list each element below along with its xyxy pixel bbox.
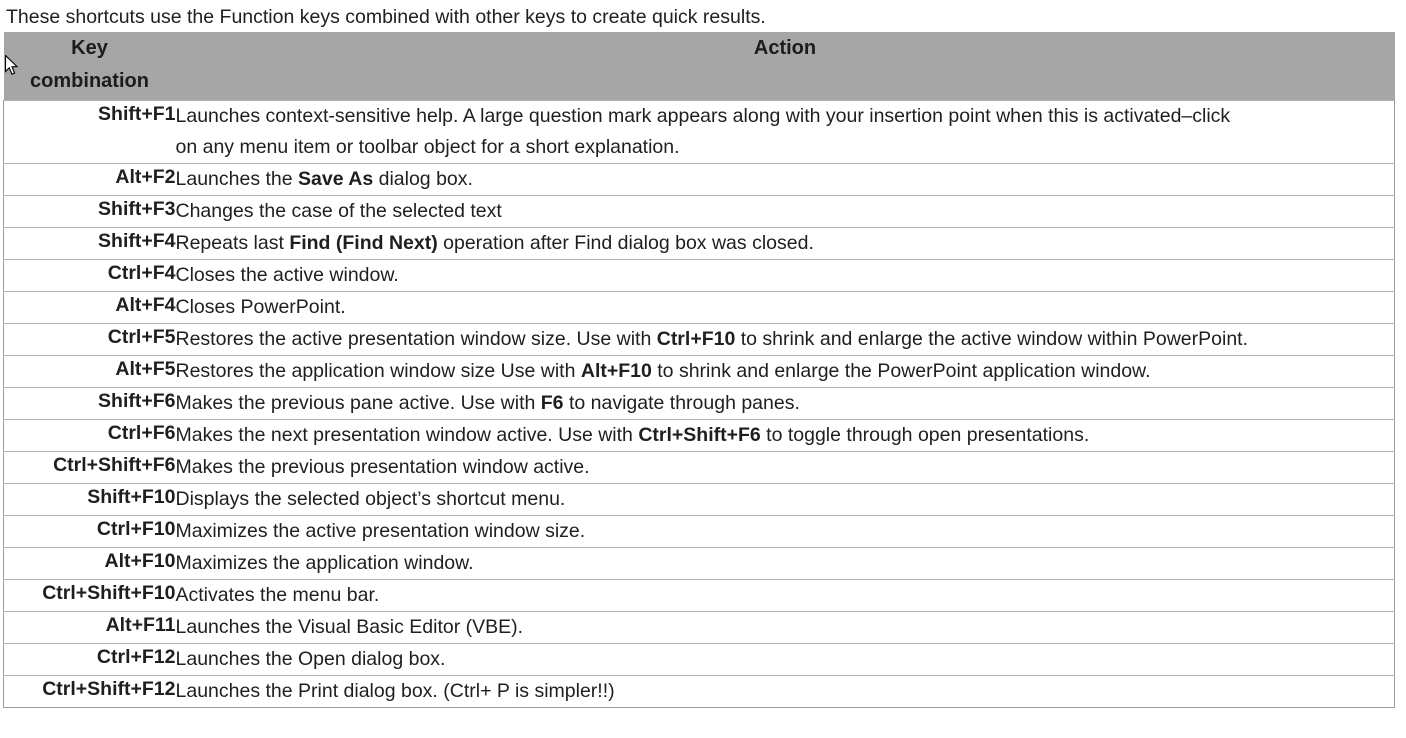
- action-text-line: Activates the menu bar.: [176, 580, 1395, 611]
- key-combination-cell: Ctrl+F4: [4, 259, 176, 291]
- table-row: Alt+F4Closes PowerPoint.: [4, 291, 1395, 323]
- action-text-fragment: Launches context-sensitive help. A large…: [176, 105, 1231, 127]
- action-text-line: Launches the Open dialog box.: [176, 644, 1395, 675]
- action-description-cell: Makes the previous pane active. Use with…: [176, 387, 1395, 419]
- action-description-cell: Launches the Visual Basic Editor (VBE).: [176, 611, 1395, 643]
- action-text-line: Displays the selected object’s shortcut …: [176, 484, 1395, 515]
- action-text-emphasis: Find (Find Next): [289, 232, 437, 254]
- table-header-row: Key combination Action: [4, 32, 1395, 100]
- table-row: Ctrl+F4Closes the active window.: [4, 259, 1395, 291]
- action-text-emphasis: Ctrl+Shift+F6: [638, 424, 760, 446]
- key-combination-cell: Shift+F3: [4, 195, 176, 227]
- action-text-fragment: Makes the next presentation window activ…: [176, 424, 639, 446]
- table-body: Shift+F1Launches context-sensitive help.…: [4, 100, 1395, 707]
- action-text-emphasis: F6: [541, 392, 564, 414]
- action-text-line: Closes the active window.: [176, 260, 1395, 291]
- table-row: Shift+F3Changes the case of the selected…: [4, 195, 1395, 227]
- action-text-fragment: Launches the Print dialog box. (Ctrl+ P …: [176, 680, 615, 702]
- table-row: Ctrl+Shift+F10Activates the menu bar.: [4, 579, 1395, 611]
- key-combination-cell: Ctrl+Shift+F12: [4, 675, 176, 707]
- action-text-line: Maximizes the application window.: [176, 548, 1395, 579]
- action-text-emphasis: Save As: [298, 168, 373, 190]
- action-text-fragment: to navigate through panes.: [564, 392, 800, 414]
- action-description-cell: Displays the selected object’s shortcut …: [176, 483, 1395, 515]
- table-row: Ctrl+Shift+F6Makes the previous presenta…: [4, 451, 1395, 483]
- action-text-fragment: Maximizes the application window.: [176, 552, 474, 574]
- action-description-cell: Makes the previous presentation window a…: [176, 451, 1395, 483]
- table-row: Ctrl+F5Restores the active presentation …: [4, 323, 1395, 355]
- key-combination-cell: Shift+F6: [4, 387, 176, 419]
- action-description-cell: Closes PowerPoint.: [176, 291, 1395, 323]
- action-text-line: Restores the application window size Use…: [176, 356, 1395, 387]
- action-description-cell: Restores the active presentation window …: [176, 323, 1395, 355]
- table-row: Shift+F4Repeats last Find (Find Next) op…: [4, 227, 1395, 259]
- key-combination-cell: Alt+F10: [4, 547, 176, 579]
- key-combination-cell: Alt+F4: [4, 291, 176, 323]
- column-header-action: Action: [176, 32, 1395, 100]
- action-text-fragment: to shrink and enlarge the active window …: [735, 328, 1248, 350]
- action-text-fragment: on any menu item or toolbar object for a…: [176, 136, 680, 158]
- action-text-line: Launches the Print dialog box. (Ctrl+ P …: [176, 676, 1395, 707]
- action-text-fragment: Maximizes the active presentation window…: [176, 520, 586, 542]
- action-text-fragment: Launches the Open dialog box.: [176, 648, 446, 670]
- action-description-cell: Restores the application window size Use…: [176, 355, 1395, 387]
- key-combination-cell: Ctrl+Shift+F6: [4, 451, 176, 483]
- action-text-fragment: Closes the active window.: [176, 264, 399, 286]
- column-header-key-line1: Key: [4, 32, 176, 65]
- key-combination-cell: Alt+F5: [4, 355, 176, 387]
- action-description-cell: Launches the Print dialog box. (Ctrl+ P …: [176, 675, 1395, 707]
- column-header-key-combination: Key combination: [4, 32, 176, 100]
- action-text-line: Changes the case of the selected text: [176, 196, 1395, 227]
- action-text-fragment: Restores the application window size Use…: [176, 360, 581, 382]
- action-text-emphasis: Ctrl+F10: [657, 328, 736, 350]
- table-row: Ctrl+Shift+F12Launches the Print dialog …: [4, 675, 1395, 707]
- action-text-fragment: dialog box.: [373, 168, 473, 190]
- action-text-line: Restores the active presentation window …: [176, 324, 1395, 355]
- action-text-line: Launches context-sensitive help. A large…: [176, 101, 1395, 132]
- table-row: Alt+F5Restores the application window si…: [4, 355, 1395, 387]
- action-description-cell: Launches the Save As dialog box.: [176, 163, 1395, 195]
- action-text-line: Makes the previous presentation window a…: [176, 452, 1395, 483]
- action-text-line: Maximizes the active presentation window…: [176, 516, 1395, 547]
- action-description-cell: Activates the menu bar.: [176, 579, 1395, 611]
- key-combination-cell: Shift+F10: [4, 483, 176, 515]
- action-text-line: Repeats last Find (Find Next) operation …: [176, 228, 1395, 259]
- action-text-fragment: Changes the case of the selected text: [176, 200, 502, 222]
- action-text-fragment: Displays the selected object’s shortcut …: [176, 488, 566, 510]
- table-header: Key combination Action: [4, 32, 1395, 100]
- action-text-fragment: Restores the active presentation window …: [176, 328, 657, 350]
- table-row: Alt+F2Launches the Save As dialog box.: [4, 163, 1395, 195]
- action-text-line: Closes PowerPoint.: [176, 292, 1395, 323]
- action-text-fragment: Makes the previous pane active. Use with: [176, 392, 541, 414]
- action-text-line: on any menu item or toolbar object for a…: [176, 132, 1395, 163]
- action-description-cell: Repeats last Find (Find Next) operation …: [176, 227, 1395, 259]
- table-row: Alt+F11Launches the Visual Basic Editor …: [4, 611, 1395, 643]
- key-combination-cell: Ctrl+F12: [4, 643, 176, 675]
- key-combination-cell: Shift+F1: [4, 100, 176, 163]
- action-description-cell: Maximizes the active presentation window…: [176, 515, 1395, 547]
- action-description-cell: Launches the Open dialog box.: [176, 643, 1395, 675]
- action-text-emphasis: Alt+F10: [581, 360, 652, 382]
- table-row: Shift+F1Launches context-sensitive help.…: [4, 100, 1395, 163]
- key-combination-cell: Shift+F4: [4, 227, 176, 259]
- table-row: Shift+F10Displays the selected object’s …: [4, 483, 1395, 515]
- action-text-fragment: Launches the Visual Basic Editor (VBE).: [176, 616, 524, 638]
- action-description-cell: Closes the active window.: [176, 259, 1395, 291]
- key-combination-cell: Alt+F11: [4, 611, 176, 643]
- table-row: Ctrl+F10Maximizes the active presentatio…: [4, 515, 1395, 547]
- column-header-key-line2: combination: [4, 65, 176, 98]
- key-combination-cell: Ctrl+Shift+F10: [4, 579, 176, 611]
- function-key-shortcuts-table: Key combination Action Shift+F1Launches …: [3, 32, 1395, 708]
- action-text-fragment: Closes PowerPoint.: [176, 296, 346, 318]
- action-text-line: Launches the Visual Basic Editor (VBE).: [176, 612, 1395, 643]
- action-description-cell: Launches context-sensitive help. A large…: [176, 100, 1395, 163]
- action-text-fragment: operation after Find dialog box was clos…: [438, 232, 814, 254]
- action-text-line: Makes the previous pane active. Use with…: [176, 388, 1395, 419]
- table-row: Shift+F6Makes the previous pane active. …: [4, 387, 1395, 419]
- key-combination-cell: Ctrl+F10: [4, 515, 176, 547]
- table-row: Alt+F10Maximizes the application window.: [4, 547, 1395, 579]
- table-row: Ctrl+F6Makes the next presentation windo…: [4, 419, 1395, 451]
- intro-paragraph: These shortcuts use the Function keys co…: [6, 4, 766, 30]
- action-text-line: Launches the Save As dialog box.: [176, 164, 1395, 195]
- table-row: Ctrl+F12Launches the Open dialog box.: [4, 643, 1395, 675]
- key-combination-cell: Ctrl+F5: [4, 323, 176, 355]
- action-text-fragment: Launches the: [176, 168, 299, 190]
- action-description-cell: Changes the case of the selected text: [176, 195, 1395, 227]
- action-text-fragment: Activates the menu bar.: [176, 584, 380, 606]
- action-text-line: Makes the next presentation window activ…: [176, 420, 1395, 451]
- action-text-fragment: Makes the previous presentation window a…: [176, 456, 590, 478]
- action-description-cell: Maximizes the application window.: [176, 547, 1395, 579]
- page-root: These shortcuts use the Function keys co…: [0, 0, 1406, 738]
- action-text-fragment: Repeats last: [176, 232, 290, 254]
- key-combination-cell: Ctrl+F6: [4, 419, 176, 451]
- action-text-fragment: to shrink and enlarge the PowerPoint app…: [652, 360, 1151, 382]
- key-combination-cell: Alt+F2: [4, 163, 176, 195]
- action-description-cell: Makes the next presentation window activ…: [176, 419, 1395, 451]
- action-text-fragment: to toggle through open presentations.: [761, 424, 1090, 446]
